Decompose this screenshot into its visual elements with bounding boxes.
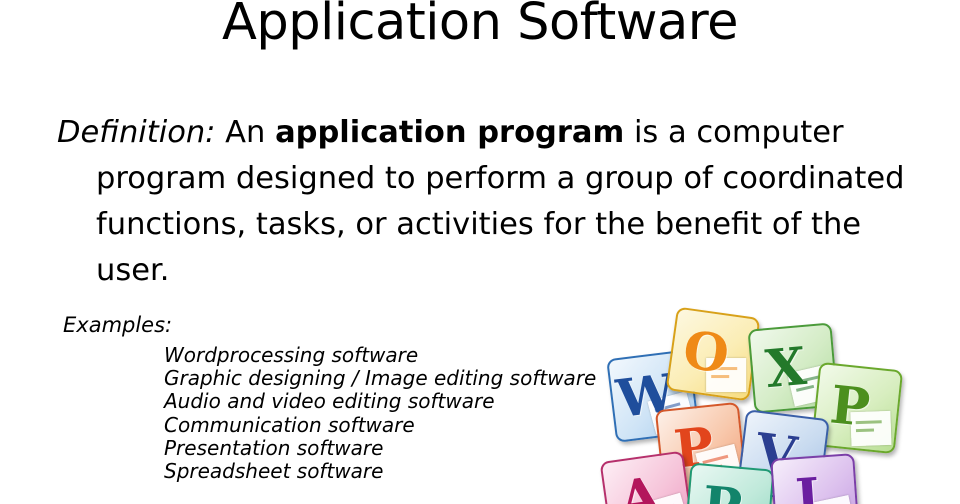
publisher-icon-letter: P xyxy=(700,480,743,504)
list-item: Wordprocessing software xyxy=(164,344,634,367)
outlook-icon-letter: O xyxy=(680,324,732,382)
list-item: Spreadsheet software xyxy=(164,460,634,483)
outlook-icon: O xyxy=(666,307,761,402)
list-item: Presentation software xyxy=(164,437,634,460)
access-icon-letter: A xyxy=(616,470,663,504)
office-application-icons: W O X P P V A P xyxy=(605,306,880,504)
slide-canvas: Application Software Definition: An appl… xyxy=(0,0,960,504)
definition-term: application program xyxy=(275,115,624,150)
list-item: Audio and video editing software xyxy=(164,390,634,413)
list-item: Communication software xyxy=(164,414,634,437)
definition-label: Definition: xyxy=(57,115,215,150)
examples-list: Wordprocessing software Graphic designin… xyxy=(164,344,634,483)
definition-paragraph: Definition: An application program is a … xyxy=(57,110,944,294)
list-item: Graphic designing / Image editing softwa… xyxy=(164,367,634,390)
access-icon: A xyxy=(600,451,695,504)
publisher-icon: P xyxy=(683,462,774,504)
infopath-icon-letter: I xyxy=(794,472,822,504)
examples-heading: Examples: xyxy=(63,312,172,338)
project-icon-letter: P xyxy=(828,379,872,435)
excel-icon-letter: X xyxy=(764,341,809,396)
infopath-icon: I xyxy=(770,453,860,504)
definition-lead: An xyxy=(215,115,275,150)
page-title: Application Software xyxy=(0,0,960,52)
